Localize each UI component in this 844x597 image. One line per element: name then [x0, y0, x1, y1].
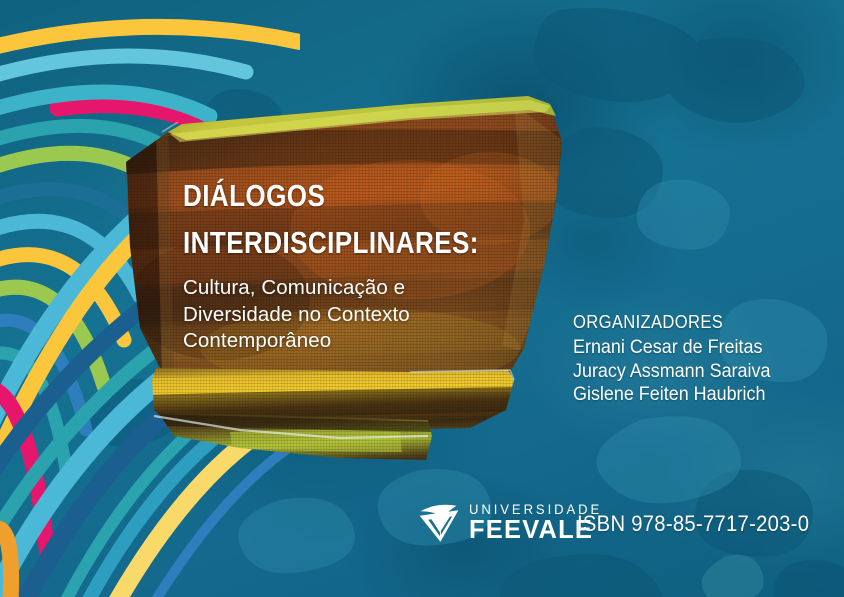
- subtitle-line-3: Contemporâneo: [183, 328, 513, 355]
- title-block: DIÁLOGOS INTERDISCIPLINARES: Cultura, Co…: [183, 172, 513, 355]
- book-cover: DIÁLOGOS INTERDISCIPLINARES: Cultura, Co…: [0, 0, 844, 597]
- organizer-name: Ernani Cesar de Freitas: [573, 336, 770, 360]
- organizers-heading: ORGANIZADORES: [573, 312, 770, 333]
- title-line-1: DIÁLOGOS: [183, 172, 460, 219]
- organizer-name: Gislene Feiten Haubrich: [573, 383, 770, 407]
- subtitle: Cultura, Comunicação e Diversidade no Co…: [183, 275, 513, 355]
- feevale-triangle-logo-icon: [417, 500, 462, 544]
- subtitle-line-1: Cultura, Comunicação e: [183, 275, 513, 302]
- title-line-2: INTERDISCIPLINARES:: [183, 219, 460, 266]
- subtitle-line-2: Diversidade no Contexto: [183, 302, 513, 329]
- isbn-text: ISBN 978-85-7717-203-0: [577, 511, 809, 537]
- organizer-name: Juracy Assmann Saraiva: [573, 360, 770, 384]
- organizers-block: ORGANIZADORES Ernani Cesar de Freitas Ju…: [573, 312, 788, 407]
